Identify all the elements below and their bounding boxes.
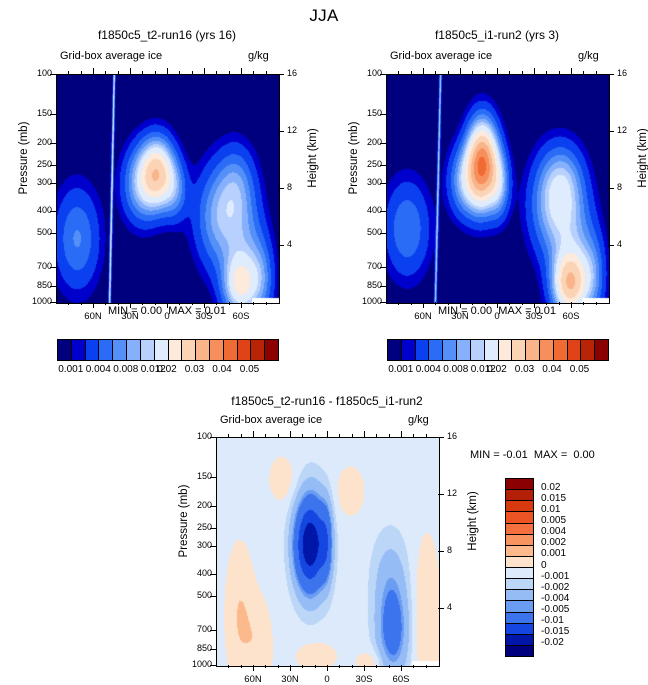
colorbar-diff-label: -0.001 <box>541 571 569 582</box>
colorbar-right-swatch[interactable] <box>499 340 513 360</box>
panel-right-pressure-tick <box>380 114 386 115</box>
panel-right-lat-tick-top <box>534 68 535 74</box>
panel-right-pressure-tick <box>380 183 386 184</box>
panel-right-lat-tick-top <box>472 71 473 74</box>
panel-right-lat-tick <box>534 302 535 308</box>
colorbar-diff-label: -0.01 <box>541 615 564 626</box>
panel-diff-lat-tick <box>302 665 303 668</box>
colorbar-right-swatch[interactable] <box>554 340 568 360</box>
panel-right-lat-tick <box>411 302 412 305</box>
panel-left-pressure-tick <box>50 165 56 166</box>
panel-right-lat-label: 30N <box>442 311 478 322</box>
panel-diff-pressure-label: 700 <box>184 624 212 634</box>
panel-left-pressure-label: 100 <box>24 68 52 78</box>
panel-diff-lat-label: 30N <box>272 674 308 685</box>
panel-left-lat-tick <box>229 302 230 305</box>
panel-left-pressure-tick <box>50 143 56 144</box>
panel-diff-pressure-label: 850 <box>184 643 212 653</box>
panel-diff-lat-tick-top <box>290 431 291 437</box>
panel-diff-lat-label: 0 <box>309 674 345 685</box>
panel-right-pressure-tick <box>380 74 386 75</box>
panel-left-pressure-label: 500 <box>24 227 52 237</box>
panel-right-pressure-tick <box>380 286 386 287</box>
panel-right-lat-tick-top <box>583 71 584 74</box>
panel-diff-height-tick <box>438 551 444 552</box>
panel-diff-lat-tick-top <box>389 434 390 437</box>
panel-left-pressure-label: 200 <box>24 137 52 147</box>
panel-left-lat-tick <box>130 302 131 308</box>
colorbar-left-swatch[interactable] <box>210 340 224 360</box>
colorbar-diff-swatch[interactable] <box>506 635 533 646</box>
panel-right-lat-tick-top <box>485 71 486 74</box>
panel-right-pressure-label: 1000 <box>354 296 382 306</box>
panel-diff-pressure-tick <box>210 649 216 650</box>
panel-right-lat-tick-top <box>596 71 597 74</box>
panel-right-height-label: 8 <box>617 182 641 192</box>
panel-diff-lat-tick-top <box>228 434 229 437</box>
panel-left-lat-tick <box>142 302 143 305</box>
panel-left-lat-label: 60S <box>223 311 259 322</box>
panel-diff-lat-tick <box>339 665 340 668</box>
panel-right-lat-tick <box>571 302 572 308</box>
panel-right-pressure-label: 500 <box>354 227 382 237</box>
panel-right-lat-label: 60N <box>405 311 441 322</box>
panel-left-lat-tick <box>253 302 254 305</box>
colorbar-left-labels: 0.0010.0040.0080.0120.020.030.040.05 <box>57 364 277 378</box>
panel-right-lat-tick <box>509 302 510 305</box>
panel-diff-lat-tick-top <box>413 434 414 437</box>
panel-right-lat-tick <box>546 302 547 305</box>
panel-diff-pressure-tick <box>210 528 216 529</box>
panel-left-lat-tick-top <box>81 71 82 74</box>
panel-left-lat-tick-top <box>142 71 143 74</box>
panel-right-pressure-tick <box>380 302 386 303</box>
colorbar-diff-swatch[interactable] <box>506 490 533 501</box>
panel-left-pressure-label: 300 <box>24 177 52 187</box>
panel-diff-pressure-label: 250 <box>184 522 212 532</box>
panel-diff-pressure-tick <box>210 596 216 597</box>
panel-left-height-tick <box>278 74 284 75</box>
panel-right-height-label: 16 <box>617 68 641 78</box>
panel-left-pressure-tick <box>50 74 56 75</box>
panel-left-pressure-label: 700 <box>24 261 52 271</box>
colorbar-left-swatch[interactable] <box>99 340 113 360</box>
colorbar-diff-label: 0.01 <box>541 504 560 515</box>
colorbar-left-swatch[interactable] <box>238 340 252 360</box>
panel-right-lat-tick <box>435 302 436 305</box>
panel-left-lat-tick <box>118 302 119 305</box>
panel-diff-lat-tick <box>352 665 353 668</box>
panel-right-units: g/kg <box>578 50 599 62</box>
colorbar-diff-label: 0.02 <box>541 482 560 493</box>
panel-left-pressure-label: 850 <box>24 280 52 290</box>
panel-diff-min-value: -0.01 <box>503 449 528 461</box>
panel-diff-height-tick <box>438 608 444 609</box>
colorbar-right-labels: 0.0010.0040.0080.0120.020.030.040.05 <box>387 364 607 378</box>
colorbar-diff-swatch[interactable] <box>506 501 533 512</box>
panel-left-pressure-tick <box>50 302 56 303</box>
panel-diff-height-label: 4 <box>447 602 471 612</box>
panel-right-lat-tick-top <box>571 68 572 74</box>
panel-left-lat-tick <box>68 302 69 305</box>
colorbar-right-swatch[interactable] <box>595 340 608 360</box>
panel-diff-max-label: MAX = <box>534 449 567 461</box>
colorbar-right[interactable] <box>387 339 609 361</box>
panel-right-pressure-tick <box>380 233 386 234</box>
panel-diff-lat-tick <box>290 665 291 671</box>
panel-right-lat-tick <box>596 302 597 305</box>
colorbar-diff-label: 0.004 <box>541 526 566 537</box>
colorbar-right-swatch[interactable] <box>388 340 402 360</box>
colorbar-diff-swatch[interactable] <box>506 512 533 523</box>
colorbar-left-swatch[interactable] <box>141 340 155 360</box>
panel-right-title: f1850c5_i1-run2 (yrs 3) <box>386 28 608 42</box>
colorbar-left-label: 0.05 <box>231 364 269 375</box>
colorbar-diff-label: -0.02 <box>541 637 564 648</box>
panel-right-contour-canvas <box>387 75 609 303</box>
panel-right-lat-tick-top <box>546 71 547 74</box>
figure-title: JJA <box>0 6 648 26</box>
panel-diff-pressure-tick <box>210 665 216 666</box>
panel-left-lat-tick-top <box>241 68 242 74</box>
panel-diff-lat-tick <box>364 665 365 671</box>
panel-left-lat-tick-top <box>130 68 131 74</box>
panel-left-lat-tick <box>155 302 156 305</box>
panel-diff-height-tick <box>438 494 444 495</box>
colorbar-diff-swatch[interactable] <box>506 601 533 612</box>
colorbar-diff-swatch[interactable] <box>506 524 533 535</box>
panel-diff-lat-tick <box>327 665 328 671</box>
panel-right-pressure-tick <box>380 165 386 166</box>
colorbar-left-swatch[interactable] <box>169 340 183 360</box>
panel-diff-lat-label: 60S <box>383 674 419 685</box>
colorbar-left-swatch[interactable] <box>224 340 238 360</box>
panel-right-pressure-label: 150 <box>354 108 382 118</box>
colorbar-left-swatch[interactable] <box>251 340 265 360</box>
panel-diff-pressure-label: 200 <box>184 500 212 510</box>
panel-left-lat-label: 30N <box>112 311 148 322</box>
panel-left-lat-label: 30S <box>186 311 222 322</box>
panel-right-pressure-label: 700 <box>354 261 382 271</box>
panel-left-title: f1850c5_t2-run16 (yrs 16) <box>56 28 278 42</box>
colorbar-right-swatch[interactable] <box>457 340 471 360</box>
panel-right-height-tick <box>608 131 614 132</box>
panel-right-lat-label: 0 <box>479 311 515 322</box>
colorbar-right-label: 0.05 <box>561 364 599 375</box>
panel-left-height-tick <box>278 131 284 132</box>
panel-right-pressure-label: 850 <box>354 280 382 290</box>
colorbar-diff-swatch[interactable] <box>506 590 533 601</box>
panel-right-lat-tick <box>398 302 399 305</box>
colorbar-right-swatch[interactable] <box>402 340 416 360</box>
panel-left-lat-tick <box>266 302 267 305</box>
panel-left-lat-label: 60N <box>75 311 111 322</box>
panel-right-lat-tick-top <box>423 68 424 74</box>
panel-diff-pressure-label: 500 <box>184 590 212 600</box>
panel-left-lat-tick-top <box>229 71 230 74</box>
panel-left-lat-tick <box>192 302 193 305</box>
panel-diff-lat-tick-top <box>376 434 377 437</box>
panel-left-pressure-tick <box>50 183 56 184</box>
colorbar-diff-swatch[interactable] <box>506 613 533 624</box>
panel-right-lat-tick-top <box>497 68 498 74</box>
panel-right-lat-tick <box>583 302 584 305</box>
panel-left-pressure-label: 1000 <box>24 296 52 306</box>
panel-left-height-tick <box>278 245 284 246</box>
panel-diff-height-label: 16 <box>447 431 471 441</box>
panel-left-lat-tick-top <box>93 68 94 74</box>
panel-left-plot[interactable] <box>56 74 280 304</box>
panel-left-lat-tick-top <box>105 71 106 74</box>
panel-right-subtitle: Grid-box average ice <box>390 50 492 62</box>
colorbar-right-swatch[interactable] <box>471 340 485 360</box>
panel-right-lat-tick <box>423 302 424 308</box>
panel-right-lat-tick <box>559 302 560 305</box>
panel-diff-pressure-label: 150 <box>184 471 212 481</box>
panel-right-height-label: 4 <box>617 239 641 249</box>
panel-right-lat-tick <box>497 302 498 308</box>
colorbar-diff-label: 0.002 <box>541 537 566 548</box>
panel-left-lat-tick <box>241 302 242 308</box>
panel-left-pressure-tick <box>50 114 56 115</box>
panel-right-pressure-tick <box>380 211 386 212</box>
panel-left-lat-tick-top <box>204 68 205 74</box>
panel-diff-lat-tick <box>253 665 254 671</box>
panel-left-lat-tick <box>93 302 94 308</box>
colorbar-right-swatch[interactable] <box>526 340 540 360</box>
panel-diff-pressure-tick <box>210 437 216 438</box>
colorbar-left-swatch[interactable] <box>113 340 127 360</box>
panel-left-pressure-tick <box>50 286 56 287</box>
colorbar-left-swatch[interactable] <box>196 340 210 360</box>
panel-right-height-tick <box>608 188 614 189</box>
panel-right-pressure-label: 200 <box>354 137 382 147</box>
panel-left-lat-tick-top <box>216 71 217 74</box>
panel-diff-lat-tick-top <box>302 434 303 437</box>
panel-right-plot[interactable] <box>386 74 610 304</box>
panel-diff-pressure-tick <box>210 630 216 631</box>
panel-left-pressure-label: 150 <box>24 108 52 118</box>
panel-diff-lat-tick <box>413 665 414 668</box>
panel-left-pressure-tick <box>50 233 56 234</box>
panel-right-pressure-label: 300 <box>354 177 382 187</box>
colorbar-left-swatch[interactable] <box>182 340 196 360</box>
panel-left-lat-tick-top <box>179 71 180 74</box>
panel-diff-lat-tick-top <box>327 431 328 437</box>
panel-right-lat-tick-top <box>398 71 399 74</box>
panel-right-pressure-label: 100 <box>354 68 382 78</box>
colorbar-right-swatch[interactable] <box>429 340 443 360</box>
colorbar-diff-label: 0.001 <box>541 548 566 559</box>
panel-diff-pressure-label: 100 <box>184 431 212 441</box>
panel-diff-lat-tick <box>315 665 316 668</box>
panel-diff-lat-label: 60N <box>235 674 271 685</box>
colorbar-left-swatch[interactable] <box>58 340 72 360</box>
panel-diff-lat-tick <box>265 665 266 668</box>
panel-left-pressure-label: 400 <box>24 205 52 215</box>
colorbar-diff-swatch[interactable] <box>506 479 533 490</box>
panel-diff-minmax: MIN = -0.01 MAX = 0.00 <box>470 449 595 461</box>
panel-left-lat-tick <box>179 302 180 305</box>
panel-right-lat-tick-top <box>411 71 412 74</box>
panel-left-height-label: 4 <box>287 239 311 249</box>
panel-diff-pressure-label: 300 <box>184 540 212 550</box>
panel-right-pressure-tick <box>380 267 386 268</box>
panel-left-pressure-label: 250 <box>24 159 52 169</box>
panel-left-lat-tick <box>81 302 82 305</box>
panel-diff-title: f1850c5_t2-run16 - f1850c5_i1-run2 <box>166 394 488 408</box>
panel-left-lat-tick-top <box>155 71 156 74</box>
panel-diff-lat-tick-top <box>352 434 353 437</box>
colorbar-diff-swatch[interactable] <box>506 568 533 579</box>
panel-left-pressure-tick <box>50 267 56 268</box>
colorbar-left-swatch[interactable] <box>72 340 86 360</box>
panel-diff-height-label: 12 <box>447 488 471 498</box>
panel-diff-plot[interactable] <box>216 437 440 667</box>
panel-diff-pressure-tick <box>210 477 216 478</box>
panel-right-lat-tick-top <box>435 71 436 74</box>
panel-diff-contour-canvas <box>217 438 439 666</box>
panel-right-pressure-tick <box>380 143 386 144</box>
colorbar-diff-swatch[interactable] <box>506 546 533 557</box>
panel-left-contour-canvas <box>57 75 279 303</box>
panel-right-height-tick <box>608 74 614 75</box>
panel-right-height-tick <box>608 245 614 246</box>
panel-diff-lat-tick-top <box>315 434 316 437</box>
panel-left-lat-tick-top <box>167 68 168 74</box>
panel-left-lat-tick <box>216 302 217 305</box>
colorbar-right-swatch[interactable] <box>485 340 499 360</box>
panel-diff-height-label: 8 <box>447 545 471 555</box>
colorbar-right-swatch[interactable] <box>568 340 582 360</box>
panel-diff-lat-tick <box>401 665 402 671</box>
panel-left-units: g/kg <box>248 50 269 62</box>
panel-left-pressure-tick <box>50 211 56 212</box>
panel-diff-pressure-tick <box>210 574 216 575</box>
panel-diff-lat-tick-top <box>265 434 266 437</box>
colorbar-left-swatch[interactable] <box>265 340 278 360</box>
panel-right-lat-label: 30S <box>516 311 552 322</box>
panel-diff-lat-tick <box>426 665 427 668</box>
colorbar-diff-swatch[interactable] <box>506 557 533 568</box>
panel-diff-min-label: MIN = <box>470 449 500 461</box>
colorbar-left[interactable] <box>57 339 279 361</box>
colorbar-right-swatch[interactable] <box>416 340 430 360</box>
panel-diff-lat-tick-top <box>426 434 427 437</box>
panel-diff-subtitle: Grid-box average ice <box>220 414 322 426</box>
panel-right-lat-tick-top <box>559 71 560 74</box>
panel-diff-pressure-label: 400 <box>184 568 212 578</box>
panel-left-lat-tick-top <box>118 71 119 74</box>
panel-left-subtitle: Grid-box average ice <box>60 50 162 62</box>
colorbar-diff[interactable] <box>505 478 534 657</box>
colorbar-diff-swatch[interactable] <box>506 579 533 590</box>
panel-diff-height-tick <box>438 437 444 438</box>
panel-diff-lat-tick <box>376 665 377 668</box>
panel-left-lat-tick <box>167 302 168 308</box>
panel-left-lat-label: 0 <box>149 311 185 322</box>
colorbar-left-swatch[interactable] <box>86 340 100 360</box>
panel-right-height-label: 12 <box>617 125 641 135</box>
panel-left-lat-tick-top <box>253 71 254 74</box>
panel-right-pressure-label: 250 <box>354 159 382 169</box>
panel-diff-lat-tick <box>278 665 279 668</box>
panel-right-lat-tick <box>448 302 449 305</box>
panel-diff-lat-tick-top <box>253 431 254 437</box>
colorbar-diff-label: -0.004 <box>541 593 569 604</box>
colorbar-diff-label: 0.005 <box>541 515 566 526</box>
panel-diff-lat-tick <box>241 665 242 668</box>
panel-right-lat-tick-top <box>509 71 510 74</box>
panel-right-lat-tick-top <box>460 68 461 74</box>
panel-diff-lat-tick-top <box>339 434 340 437</box>
colorbar-diff-label: 0.015 <box>541 493 566 504</box>
panel-right-lat-tick <box>472 302 473 305</box>
panel-left-lat-tick-top <box>68 71 69 74</box>
panel-diff-lat-tick-top <box>401 431 402 437</box>
panel-diff-lat-tick <box>389 665 390 668</box>
panel-diff-units: g/kg <box>408 414 429 426</box>
panel-diff-lat-tick <box>228 665 229 668</box>
panel-left-lat-tick-top <box>266 71 267 74</box>
colorbar-left-swatch[interactable] <box>127 340 141 360</box>
panel-diff-lat-label: 30S <box>346 674 382 685</box>
panel-left-lat-tick <box>105 302 106 305</box>
panel-diff-lat-tick-top <box>364 431 365 437</box>
panel-right-lat-tick-top <box>448 71 449 74</box>
panel-left-lat-tick <box>204 302 205 308</box>
panel-right-lat-tick <box>460 302 461 308</box>
panel-right-lat-tick <box>485 302 486 305</box>
colorbar-diff-swatch[interactable] <box>506 646 533 656</box>
panel-right-lat-tick <box>522 302 523 305</box>
panel-right-pressure-label: 400 <box>354 205 382 215</box>
panel-left-height-label: 8 <box>287 182 311 192</box>
colorbar-right-swatch[interactable] <box>443 340 457 360</box>
colorbar-diff-label: -0.005 <box>541 604 569 615</box>
colorbar-right-swatch[interactable] <box>581 340 595 360</box>
colorbar-diff-swatch[interactable] <box>506 624 533 635</box>
panel-left-height-label: 16 <box>287 68 311 78</box>
colorbar-diff-label: -0.002 <box>541 582 569 593</box>
colorbar-right-swatch[interactable] <box>512 340 526 360</box>
panel-diff-max-value: 0.00 <box>573 449 594 461</box>
panel-left-lat-tick-top <box>192 71 193 74</box>
colorbar-diff-label: 0 <box>541 560 547 571</box>
colorbar-diff-label: -0.015 <box>541 626 569 637</box>
panel-right-lat-tick-top <box>522 71 523 74</box>
panel-diff-pressure-label: 1000 <box>184 659 212 669</box>
panel-left-height-label: 12 <box>287 125 311 135</box>
panel-diff-pressure-tick <box>210 546 216 547</box>
colorbar-right-swatch[interactable] <box>540 340 554 360</box>
colorbar-diff-labels: 0.020.0150.010.0050.0040.0020.0010-0.001… <box>537 478 597 655</box>
panel-diff-pressure-tick <box>210 506 216 507</box>
panel-right-lat-label: 60S <box>553 311 589 322</box>
panel-diff-lat-tick-top <box>278 434 279 437</box>
panel-diff-lat-tick-top <box>241 434 242 437</box>
colorbar-diff-swatch[interactable] <box>506 535 533 546</box>
panel-left-height-tick <box>278 188 284 189</box>
colorbar-left-swatch[interactable] <box>155 340 169 360</box>
